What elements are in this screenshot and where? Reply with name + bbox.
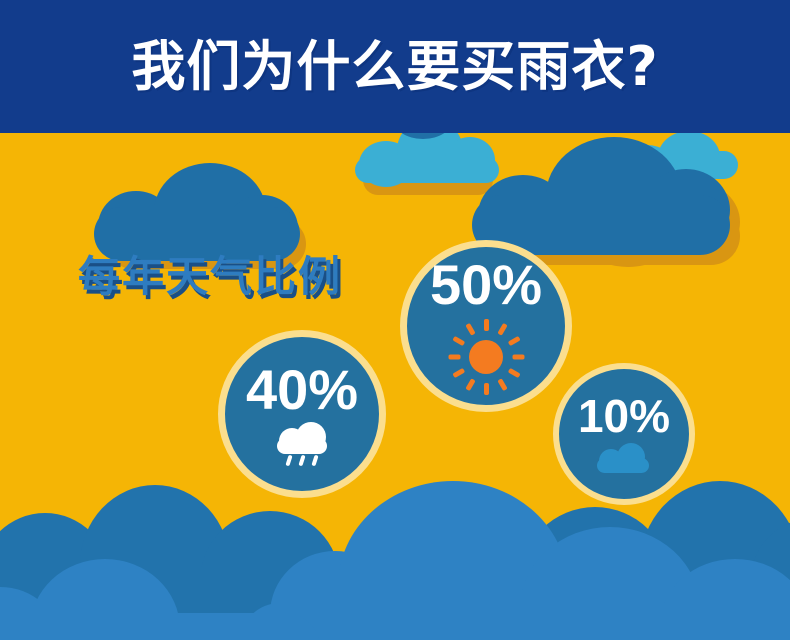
stat-value-cloud: 10%: [578, 393, 670, 439]
infographic-poster: 我们为什么要买雨衣? 每年天气比例 40% 50%: [0, 0, 790, 640]
bottom-cloud-front-left: [0, 541, 320, 640]
stat-value-rain: 40%: [246, 362, 358, 418]
stat-value-sun: 50%: [430, 257, 542, 313]
cloud-icon: [593, 441, 655, 475]
sun-icon: [448, 319, 524, 395]
stat-circle-rain[interactable]: 40%: [218, 330, 386, 498]
header-banner: 我们为什么要买雨衣?: [0, 0, 790, 133]
subtitle-label: 每年天气比例: [78, 243, 342, 304]
rain-cloud-icon: [269, 422, 335, 466]
stat-circle-sun[interactable]: 50%: [400, 240, 572, 412]
page-title: 我们为什么要买雨衣?: [131, 40, 658, 94]
stat-circle-cloud[interactable]: 10%: [553, 363, 695, 505]
